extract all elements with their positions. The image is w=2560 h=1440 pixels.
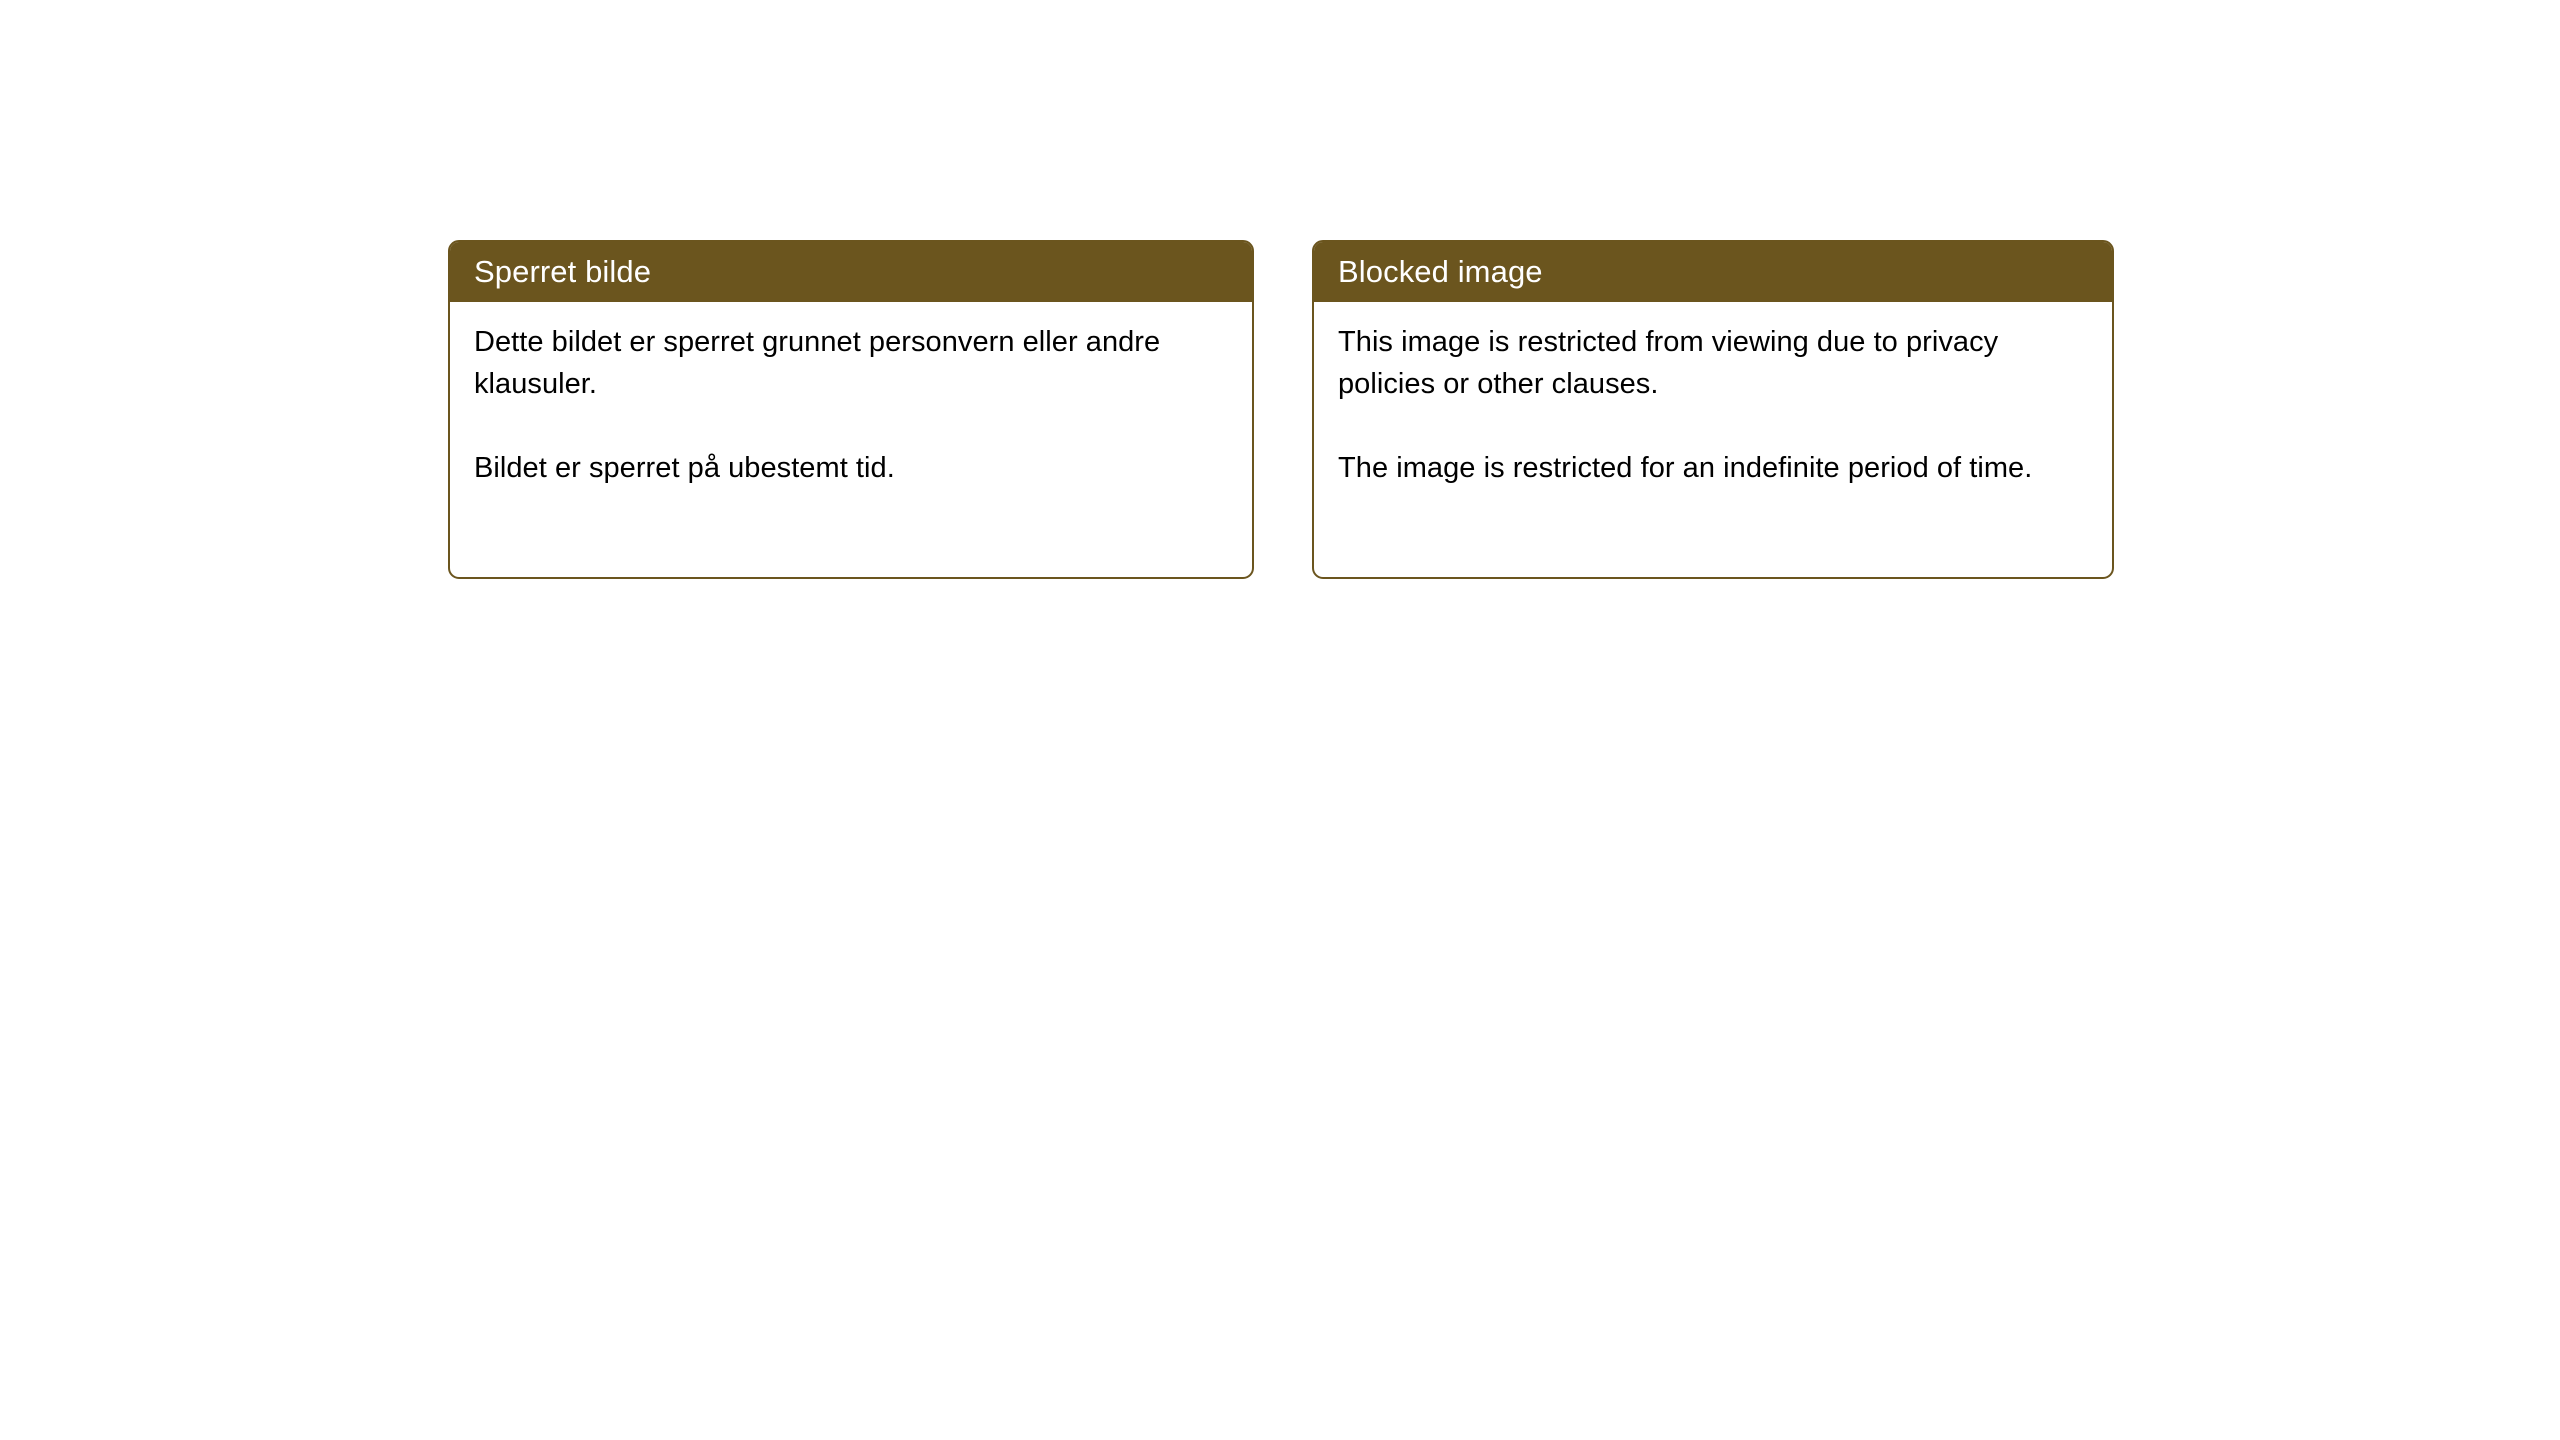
- card-title-norwegian: Sperret bilde: [474, 256, 651, 287]
- notice-stage: Sperret bilde Dette bildet er sperret gr…: [0, 0, 2560, 1440]
- card-paragraph-reason-english: This image is restricted from viewing du…: [1338, 321, 2038, 405]
- card-paragraph-reason-norwegian: Dette bildet er sperret grunnet personve…: [474, 321, 1174, 405]
- card-paragraph-duration-english: The image is restricted for an indefinit…: [1338, 447, 2038, 489]
- card-body-english: This image is restricted from viewing du…: [1314, 302, 2112, 489]
- blocked-image-card-english: Blocked image This image is restricted f…: [1312, 240, 2114, 579]
- card-title-english: Blocked image: [1338, 256, 1543, 287]
- card-paragraph-duration-norwegian: Bildet er sperret på ubestemt tid.: [474, 447, 1174, 489]
- card-header-norwegian: Sperret bilde: [450, 242, 1252, 302]
- card-header-english: Blocked image: [1314, 242, 2112, 302]
- blocked-image-card-norwegian: Sperret bilde Dette bildet er sperret gr…: [448, 240, 1254, 579]
- card-body-norwegian: Dette bildet er sperret grunnet personve…: [450, 302, 1252, 489]
